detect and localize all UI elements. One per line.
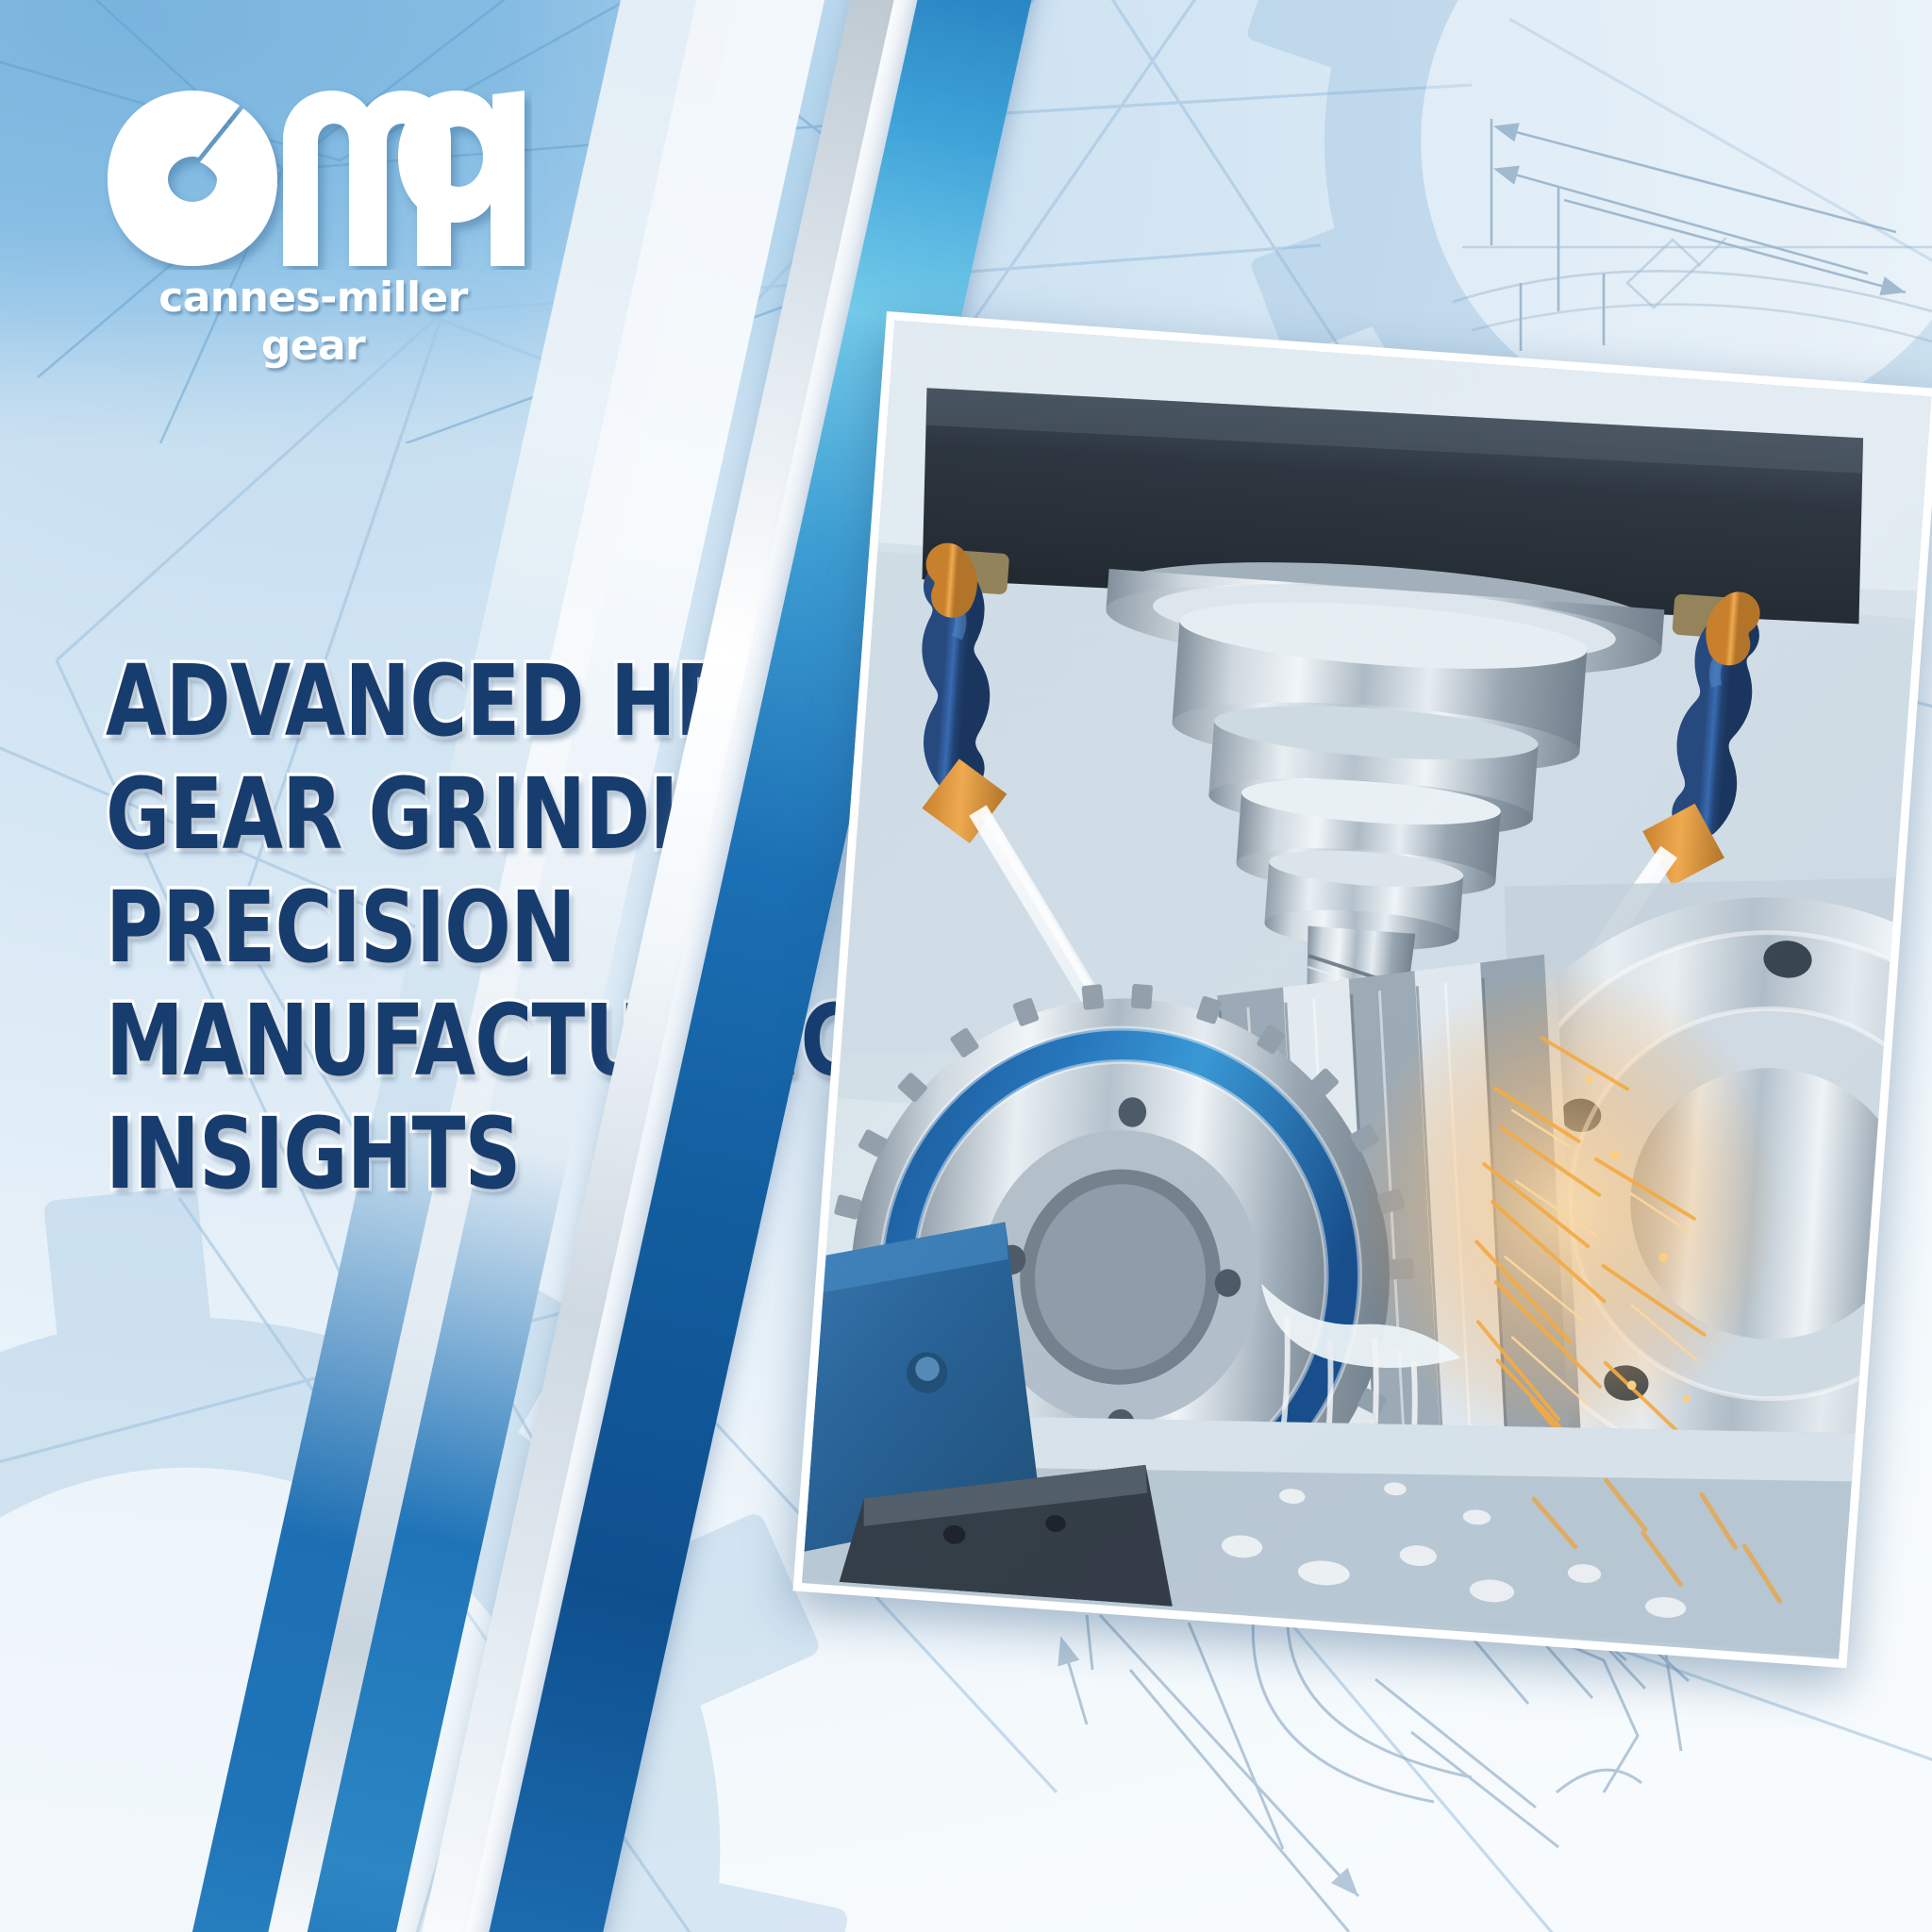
brand-tagline: cannes-miller gear: [115, 274, 511, 370]
hero-photo: [792, 311, 1932, 1668]
cnc-grinding-illustration: [802, 321, 1931, 1656]
brand-logo[interactable]: cannes-miller gear: [98, 81, 532, 370]
cmg-wordmark-icon: [98, 81, 532, 270]
poster-canvas: cannes-miller gear ADVANCED HELICAL GEAR…: [0, 0, 1932, 1932]
